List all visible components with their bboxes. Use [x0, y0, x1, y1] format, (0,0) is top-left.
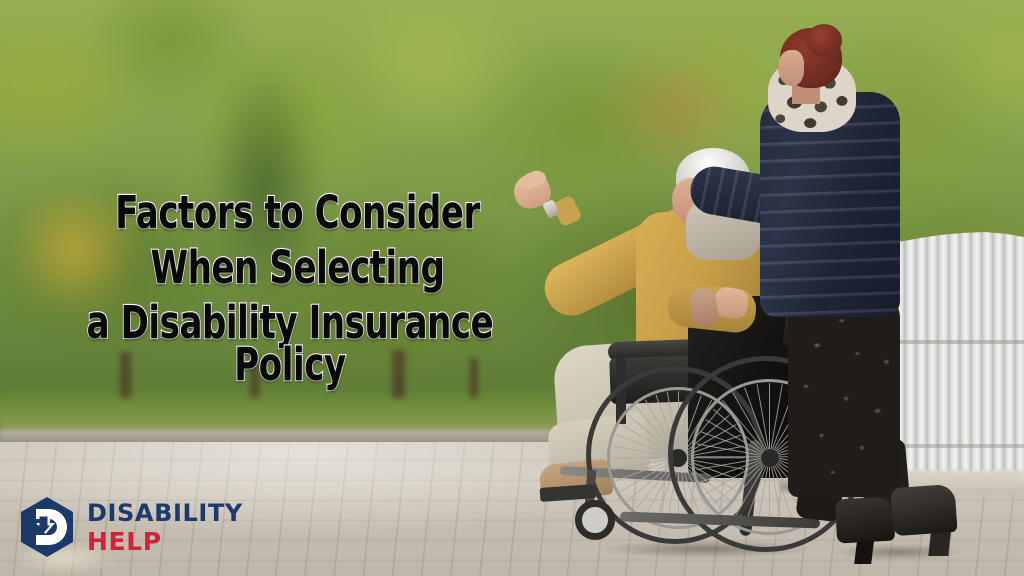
caregiver-face — [778, 50, 804, 86]
wheelchair-front-caster — [575, 500, 615, 540]
caregiver-boot-left — [835, 497, 895, 544]
logo-word-help: HELP — [87, 529, 243, 554]
scene-subjects — [0, 0, 1024, 576]
wheel-hub — [761, 449, 779, 467]
caregiver-boot-right — [890, 484, 957, 536]
caregiver-patterned-leggings — [788, 292, 900, 497]
logo-word-disability: DISABILITY — [87, 501, 243, 525]
logo-wordmark: DISABILITY HELP — [87, 501, 243, 554]
hexagon-d-arrow-logo-icon — [18, 496, 76, 558]
banner-image: Factors to Consider When Selecting a Dis… — [0, 0, 1024, 576]
caregiver-hair-bun — [806, 24, 842, 57]
disability-help-logo[interactable]: DISABILITY HELP — [18, 496, 243, 558]
